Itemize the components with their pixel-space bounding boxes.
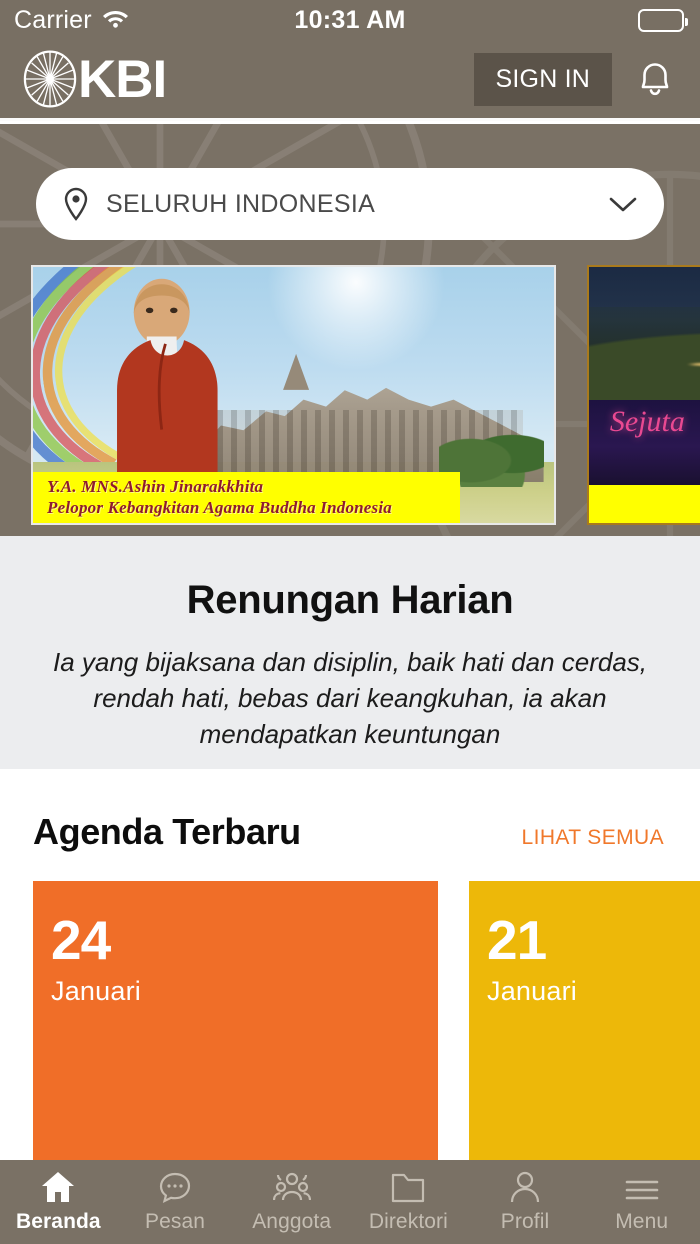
tab-menu-label: Menu <box>615 1210 668 1234</box>
agenda-title: Agenda Terbaru <box>33 811 301 853</box>
tab-menu[interactable]: Menu <box>583 1171 700 1234</box>
renungan-quote: Ia yang bijaksana dan disiplin, baik hat… <box>0 645 700 753</box>
app-root: Carrier 10:31 AM <box>0 0 700 1244</box>
tab-pesan-label: Pesan <box>145 1210 205 1234</box>
brand-logo[interactable]: KBI <box>22 50 166 108</box>
folder-icon <box>391 1171 425 1203</box>
agenda-header: Agenda Terbaru LIHAT SEMUA <box>0 769 700 853</box>
location-filter-value: SELURUH INDONESIA <box>106 190 608 219</box>
location-pin-icon <box>62 187 90 221</box>
banner-caption-line2: Pelopor Kebangkitan Agama Buddha Indones… <box>47 497 460 518</box>
agenda-card-list: 24 Januari 21 Januari <box>0 881 700 1166</box>
agenda-card-day: 24 <box>51 913 438 968</box>
tab-pesan[interactable]: Pesan <box>117 1171 234 1234</box>
bottom-tab-bar: Beranda Pesan <box>0 1160 700 1244</box>
carrier-label: Carrier <box>14 6 92 35</box>
header-actions: SIGN IN <box>474 53 680 106</box>
tab-anggota-label: Anggota <box>252 1210 331 1234</box>
agenda-card[interactable]: 21 Januari <box>469 881 700 1166</box>
tab-profil[interactable]: Profil <box>467 1171 584 1234</box>
status-bar-left: Carrier <box>0 6 129 35</box>
person-icon <box>509 1171 541 1203</box>
agenda-terbaru-section: Agenda Terbaru LIHAT SEMUA 24 Januari 21… <box>0 769 700 1160</box>
notification-bell-button[interactable] <box>630 53 680 106</box>
location-filter-input[interactable]: SELURUH INDONESIA <box>36 168 664 240</box>
tab-beranda-label: Beranda <box>16 1210 101 1234</box>
agenda-card-day: 21 <box>487 913 700 968</box>
tab-profil-label: Profil <box>501 1210 549 1234</box>
hamburger-menu-icon <box>624 1171 660 1203</box>
renungan-title: Renungan Harian <box>0 578 700 623</box>
home-icon <box>41 1171 75 1203</box>
banner-caption: Y.A. MNS.Ashin Jinarakkhita Pelopor Keba… <box>33 472 460 523</box>
users-group-icon <box>273 1171 311 1203</box>
renungan-harian-section: Renungan Harian Ia yang bijaksana dan di… <box>0 536 700 769</box>
brand-name: KBI <box>78 53 166 106</box>
wifi-icon <box>102 8 129 33</box>
agenda-see-all-button[interactable]: LIHAT SEMUA <box>522 826 665 850</box>
tab-beranda[interactable]: Beranda <box>0 1171 117 1234</box>
tab-anggota[interactable]: Anggota <box>233 1171 350 1234</box>
agenda-card-month: Januari <box>51 976 438 1007</box>
dharma-wheel-icon <box>22 50 78 108</box>
banner-caption-line1: Y.A. MNS.Ashin Jinarakkhita <box>47 476 460 497</box>
monk-portrait-image <box>75 275 252 480</box>
agenda-card-month: Januari <box>487 976 700 1007</box>
banner2-script-text: Sejuta <box>610 405 685 439</box>
agenda-card[interactable]: 24 Januari <box>33 881 438 1166</box>
banner-hut-50[interactable]: Sejuta HUT 50 T <box>587 265 700 525</box>
tab-direktori[interactable]: Direktori <box>350 1171 467 1234</box>
hero-section: SELURUH INDONESIA <box>0 124 700 536</box>
tab-direktori-label: Direktori <box>369 1210 448 1234</box>
banner-carousel[interactable]: Y.A. MNS.Ashin Jinarakkhita Pelopor Keba… <box>0 265 700 529</box>
status-bar: Carrier 10:31 AM <box>0 0 700 40</box>
status-bar-right <box>638 9 700 32</box>
banner2-caption: HUT 50 T <box>589 485 700 523</box>
chevron-down-icon[interactable] <box>608 195 638 213</box>
sign-in-button[interactable]: SIGN IN <box>474 53 612 106</box>
chat-bubble-icon <box>158 1171 192 1203</box>
battery-full-icon <box>638 9 684 32</box>
banner-ashin-jinarakkhita[interactable]: Y.A. MNS.Ashin Jinarakkhita Pelopor Keba… <box>31 265 556 525</box>
app-header: KBI SIGN IN <box>0 40 700 121</box>
notification-bell-icon <box>636 57 674 102</box>
